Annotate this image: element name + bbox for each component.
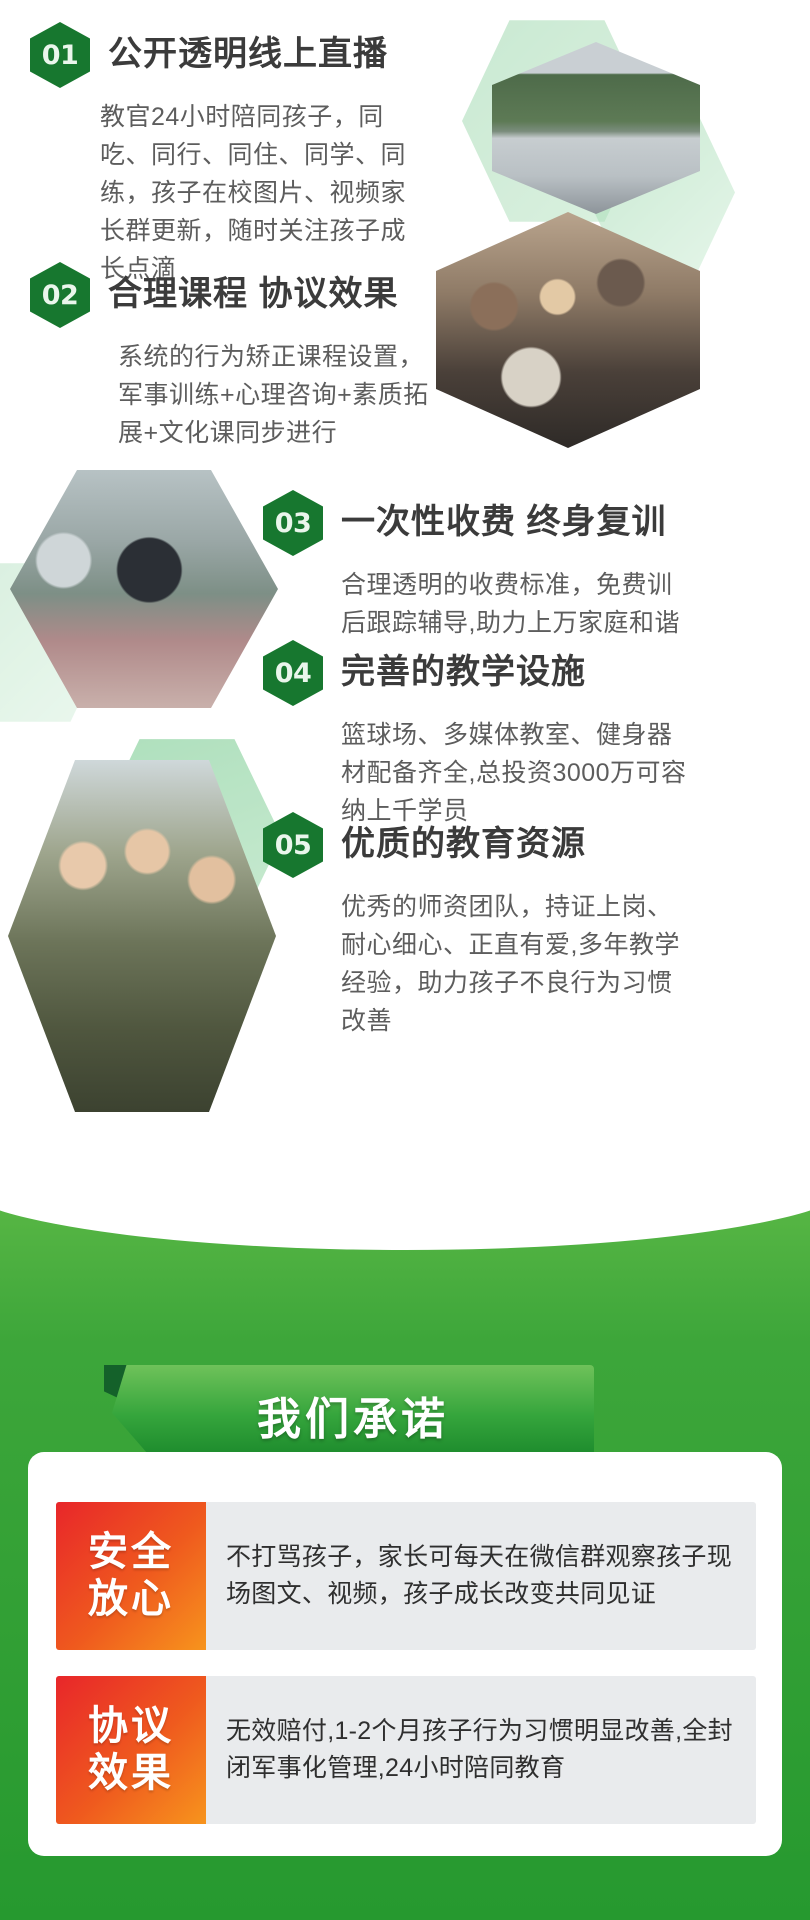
feature-header: 02 合理课程 协议效果 (30, 262, 450, 328)
feature-item-02: 02 合理课程 协议效果 系统的行为矫正课程设置，军事训练+心理咨询+素质拓展+… (30, 262, 450, 452)
feature-description: 优秀的师资团队，持证上岗、耐心细心、正直有爱,多年教学经验，助力孩子不良行为习惯… (341, 888, 693, 1040)
promise-tag-line1: 协议 (88, 1703, 174, 1750)
feature-header: 05 优质的教育资源 (263, 812, 803, 878)
feature-title: 公开透明线上直播 (108, 36, 388, 73)
feature-description: 系统的行为矫正课程设置，军事训练+心理咨询+素质拓展+文化课同步进行 (118, 338, 446, 452)
feature-item-03: 03 一次性收费 终身复训 合理透明的收费标准，免费训后跟踪辅导,助力上万家庭和… (263, 490, 803, 642)
promise-text-agreement: 无效赔付,1-2个月孩子行为习惯明显改善,全封闭军事化管理,24小时陪同教育 (206, 1676, 756, 1824)
feature-number: 03 (275, 510, 312, 537)
promise-tag-safety: 安全 放心 (56, 1502, 206, 1650)
feature-item-05: 05 优质的教育资源 优秀的师资团队，持证上岗、耐心细心、正直有爱,多年教学经验… (263, 812, 803, 1040)
feature-title: 一次性收费 终身复训 (341, 504, 666, 541)
students-study-photo (8, 760, 276, 1112)
promise-tag-line2: 放心 (88, 1576, 174, 1623)
feature-item-01: 01 公开透明线上直播 教官24小时陪同孩子，同吃、同行、同住、同学、同练，孩子… (30, 22, 440, 288)
promise-row-agreement: 协议 效果 无效赔付,1-2个月孩子行为习惯明显改善,全封闭军事化管理,24小时… (56, 1676, 756, 1824)
feature-description: 教官24小时陪同孩子，同吃、同行、同住、同学、同练，孩子在校图片、视频家长群更新… (100, 98, 420, 288)
feature-header: 03 一次性收费 终身复训 (263, 490, 803, 556)
parents-meeting-photo (436, 212, 700, 448)
hex-number-badge-02: 02 (30, 262, 90, 328)
white-curve-divider (0, 1178, 810, 1250)
promise-row-safety: 安全 放心 不打骂孩子，家长可每天在微信群观察孩子现场图文、视频，孩子成长改变共… (56, 1502, 756, 1650)
promo-poster: 01 公开透明线上直播 教官24小时陪同孩子，同吃、同行、同住、同学、同练，孩子… (0, 0, 810, 1920)
feature-number: 01 (42, 42, 79, 69)
feature-title: 合理课程 协议效果 (108, 276, 398, 313)
feature-number: 05 (275, 832, 312, 859)
hex-number-badge-04: 04 (263, 640, 323, 706)
hex-number-badge-01: 01 (30, 22, 90, 88)
hex-number-badge-05: 05 (263, 812, 323, 878)
promise-tag-line1: 安全 (88, 1529, 174, 1576)
feature-item-04: 04 完善的教学设施 篮球场、多媒体教室、健身器材配备齐全,总投资3000万可容… (263, 640, 803, 830)
feature-description: 合理透明的收费标准，免费训后跟踪辅导,助力上万家庭和谐 (341, 566, 681, 642)
promise-tag-line2: 效果 (88, 1750, 174, 1797)
promise-section: 我们承诺 安全 放心 不打骂孩子，家长可每天在微信群观察孩子现场图文、视频，孩子… (0, 1180, 810, 1920)
promise-banner-title: 我们承诺 (112, 1383, 594, 1447)
feature-header: 04 完善的教学设施 (263, 640, 803, 706)
hex-number-badge-03: 03 (263, 490, 323, 556)
feature-header: 01 公开透明线上直播 (30, 22, 440, 88)
feature-number: 02 (42, 282, 79, 309)
promise-tag-agreement: 协议 效果 (56, 1676, 206, 1824)
promise-text-safety: 不打骂孩子，家长可每天在微信群观察孩子现场图文、视频，孩子成长改变共同见证 (206, 1502, 756, 1650)
feature-title: 完善的教学设施 (341, 654, 586, 691)
feature-number: 04 (275, 660, 312, 687)
feature-title: 优质的教育资源 (341, 826, 586, 863)
classroom-teacher-photo (10, 470, 278, 708)
dormitory-photo (492, 42, 700, 214)
